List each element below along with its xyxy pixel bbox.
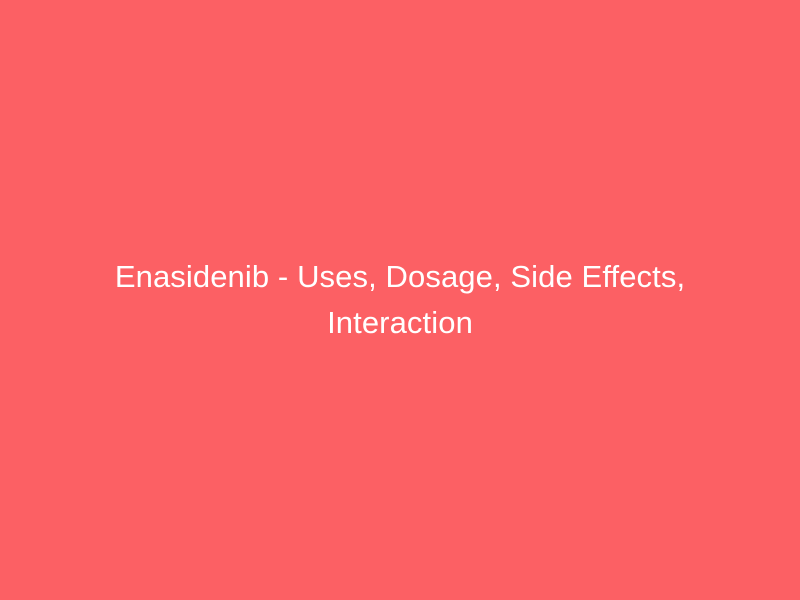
title-card: Enasidenib - Uses, Dosage, Side Effects,… bbox=[0, 0, 800, 600]
title-block: Enasidenib - Uses, Dosage, Side Effects,… bbox=[90, 254, 710, 346]
page-title: Enasidenib - Uses, Dosage, Side Effects,… bbox=[90, 254, 710, 346]
